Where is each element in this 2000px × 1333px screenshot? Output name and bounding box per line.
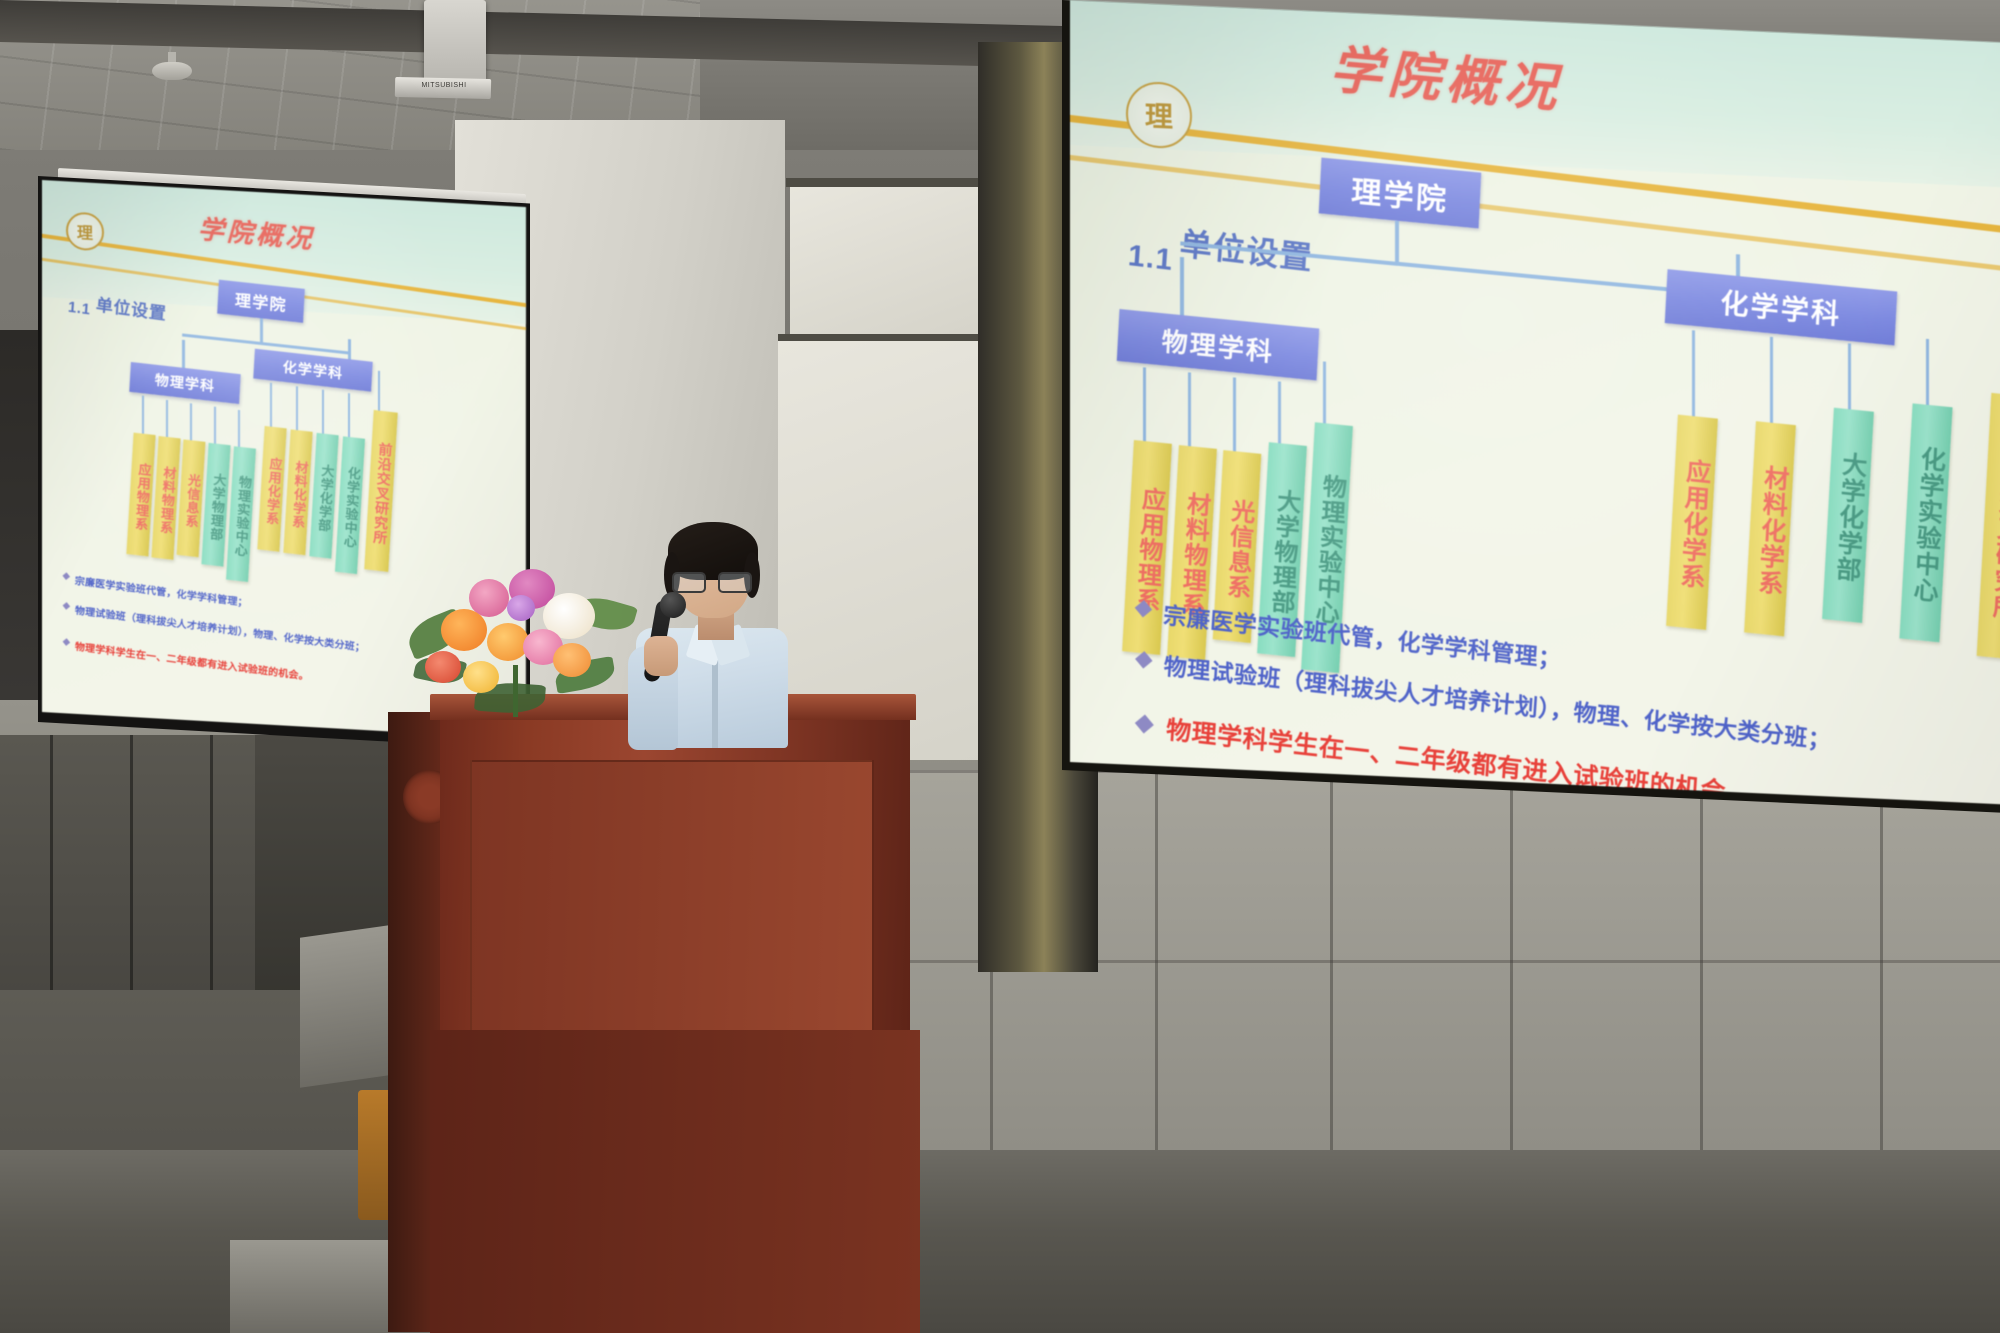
left-p-conn-2: [166, 400, 168, 438]
right-bullet-1-marker: ◆: [1134, 593, 1153, 622]
left-vbox-p1: 应用物理系: [126, 433, 155, 557]
right-vbox-c1: 应用化学系: [1666, 415, 1718, 630]
left-c-conn-1: [270, 383, 272, 429]
left-root-stem: [260, 318, 263, 344]
right-branch-box-physics: 物理学科: [1117, 309, 1319, 380]
projector-brand-label: MITSUBISHI: [398, 82, 490, 89]
right-p-conn-4: [1278, 381, 1281, 443]
flower-purple: [507, 595, 535, 621]
right-bullet-2-marker: ◆: [1134, 644, 1153, 673]
right-root-stem: [1395, 221, 1399, 265]
left-vbox-c3: 大学化学部: [309, 433, 338, 559]
right-bullet-3-marker: ◆: [1134, 707, 1155, 739]
right-branch1-stem: [1180, 257, 1184, 317]
right-c-conn-2: [1770, 337, 1773, 423]
right-slide: 理 学院概况 1.1 单位设置 理学院 物理学科 化学学科: [1070, 0, 2000, 805]
left-bullet-2-marker: ◆: [62, 600, 70, 612]
right-c-conn-1: [1692, 330, 1695, 416]
right-vbox-c2: 材料化学系: [1744, 421, 1796, 636]
flower-orange-3: [553, 643, 591, 677]
left-c-conn-5: [378, 371, 380, 415]
eyeglasses-icon: [672, 572, 754, 590]
seal-glyph: 理: [77, 219, 93, 244]
left-vbox-c1: 应用化学系: [257, 426, 286, 552]
left-c-conn-3: [322, 390, 324, 436]
left-vbox-c4: 化学实验中心: [335, 436, 365, 574]
left-vbox-c2: 材料化学系: [283, 429, 312, 555]
flower-yellow: [463, 661, 499, 693]
left-p-conn-4: [214, 407, 216, 445]
right-branch-box-chemistry: 化学学科: [1665, 269, 1898, 345]
left-c-conn-4: [348, 393, 350, 439]
flower-red: [425, 651, 461, 683]
left-bullet-3-marker: ◆: [62, 636, 70, 648]
window-blind-top: [790, 186, 990, 336]
right-p-conn-2: [1188, 372, 1191, 446]
right-p-conn-1: [1143, 367, 1146, 441]
left-bullet-3-text: 物理学科学生在一、二年级都有进入试验班的机会。: [74, 638, 309, 683]
left-p-conn-3: [190, 403, 192, 441]
presenter-hand: [644, 636, 678, 676]
right-vbox-c5: 前沿交叉研究所: [1977, 393, 2000, 660]
left-vbox-p2: 材料物理系: [151, 436, 180, 560]
smoke-detector-icon: [152, 62, 192, 80]
right-p-conn-5: [1323, 361, 1326, 423]
left-c-conn-2: [296, 386, 298, 432]
window-mullion-top: [786, 178, 994, 187]
right-p-conn-3: [1233, 377, 1236, 451]
window-mullion-horizontal: [778, 334, 994, 341]
left-bullet-1-marker: ◆: [62, 570, 70, 582]
left-bullet-1-text: 宗廉医学实验班代管，化学学科管理；: [74, 572, 248, 609]
left-vbox-p3: 光信息系: [177, 439, 206, 557]
right-vbox-c3: 大学化学部: [1822, 408, 1874, 623]
left-branch1-stem: [182, 340, 185, 368]
flower-orange-1: [441, 609, 487, 651]
right-root-box: 理学院: [1319, 158, 1482, 229]
left-vbox-p4: 大学物理部: [201, 443, 230, 567]
lecture-hall-photo: MITSUBISHI 理 学院概况 1.1 单位设置 理学院 物理学科: [0, 0, 2000, 1333]
right-projection-screen: 理 学院概况 1.1 单位设置 理学院 物理学科 化学学科: [1070, 0, 2000, 805]
podium-front-panel: [470, 760, 874, 1034]
right-c-conn-4: [1926, 339, 1929, 405]
left-p-conn-1: [142, 396, 144, 434]
right-c-conn-3: [1848, 343, 1851, 409]
podium-base: [430, 1030, 920, 1333]
left-branch-box-physics: 物理学科: [129, 362, 241, 404]
right-section-number: 1.1: [1127, 239, 1175, 278]
right-vbox-c4: 化学实验中心: [1899, 403, 1952, 642]
left-vbox-c5: 前沿交叉研究所: [364, 410, 397, 572]
left-p-conn-5: [238, 410, 240, 448]
left-vbox-p5: 物理实验中心: [226, 446, 256, 582]
left-section-number: 1.1: [67, 299, 91, 319]
left-bullet-3: ◆ 物理学科学生在一、二年级都有进入试验班的机会。: [62, 636, 310, 683]
right-seal-glyph: 理: [1145, 94, 1173, 135]
flower-bouquet: [405, 565, 635, 725]
